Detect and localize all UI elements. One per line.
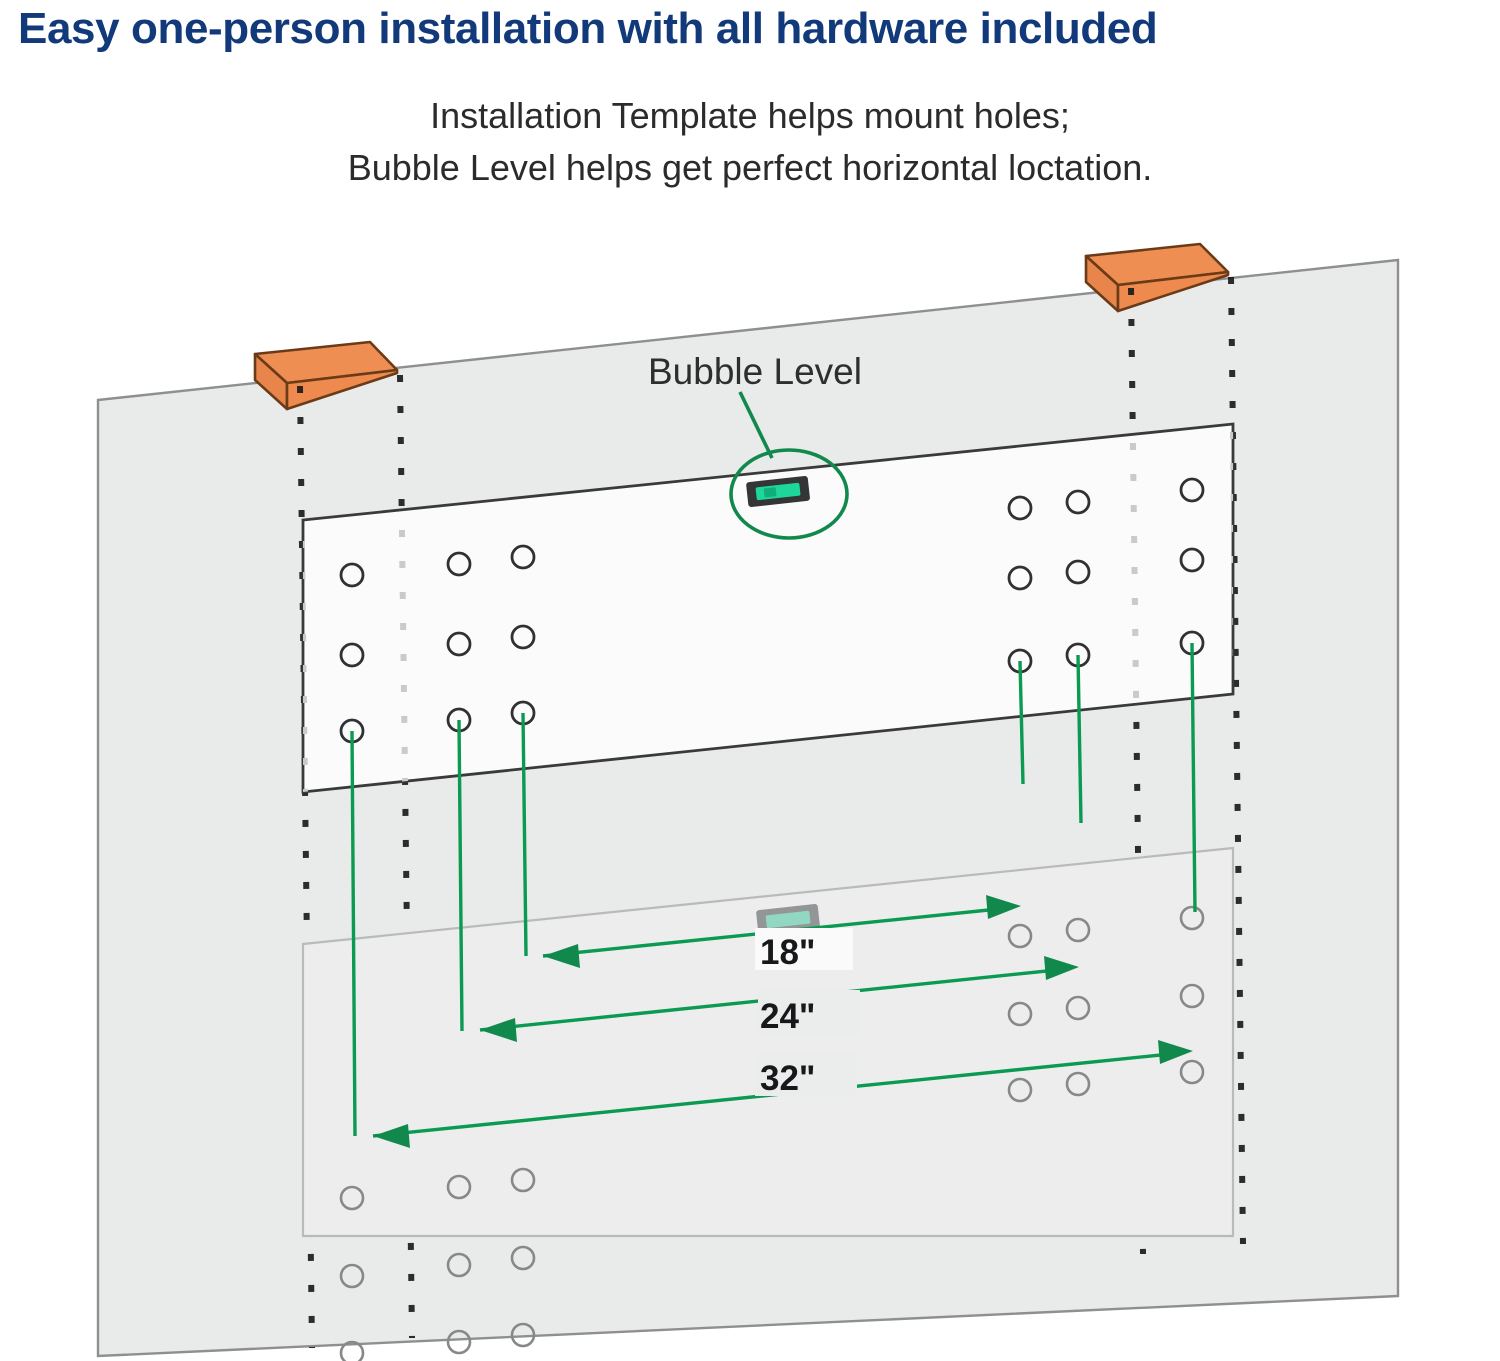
dimension-label-24: 24" bbox=[760, 997, 816, 1036]
page-subtitle: Installation Template helps mount holes;… bbox=[0, 90, 1500, 194]
bubble-level-callout-label: Bubble Level bbox=[648, 351, 862, 392]
subtitle-line-1: Installation Template helps mount holes; bbox=[430, 95, 1070, 136]
installation-diagram-page: Easy one-person installation with all ha… bbox=[0, 0, 1500, 1361]
dimension-label-18: 18" bbox=[760, 933, 816, 972]
installation-illustration: Bubble Level 18" 24" 32" bbox=[0, 196, 1500, 1361]
dimension-label-32: 32" bbox=[760, 1059, 816, 1098]
subtitle-line-2: Bubble Level helps get perfect horizonta… bbox=[0, 142, 1500, 194]
page-title: Easy one-person installation with all ha… bbox=[18, 2, 1488, 56]
